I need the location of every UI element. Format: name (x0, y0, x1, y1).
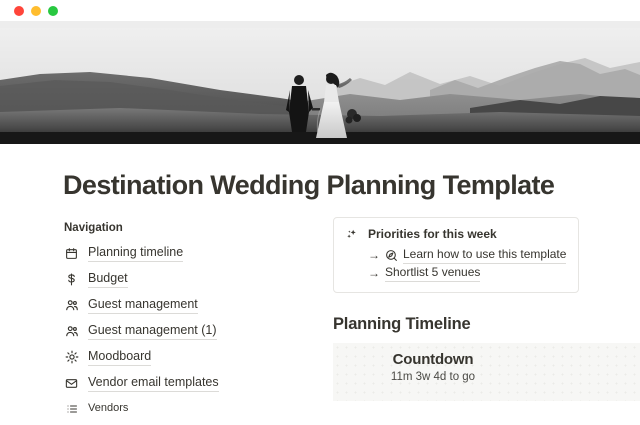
priorities-title: Priorities for this week (368, 227, 497, 242)
sparkles-icon (345, 228, 359, 242)
sun-icon (64, 350, 79, 365)
section-title-planning-timeline: Planning Timeline (333, 315, 579, 334)
sidebar-item-label: Vendor email templates (88, 375, 219, 392)
sidebar-item-moodboard[interactable]: Moodboard (64, 347, 314, 367)
hero-photo-illustration (0, 28, 640, 144)
envelope-icon (64, 376, 79, 391)
calendar-icon (64, 246, 79, 261)
sidebar-item-label: Guest management (1) (88, 323, 217, 340)
sidebar-item-label: Budget (88, 271, 128, 288)
people-icon (64, 298, 79, 313)
sidebar-item-label: Planning timeline (88, 245, 183, 262)
zoom-window-button[interactable] (48, 6, 58, 16)
countdown-subtitle: 11m 3w 4d to go (333, 371, 533, 383)
priority-item-learn[interactable]: → Learn how to use this template (368, 246, 567, 264)
priority-item-label: Learn how to use this template (403, 246, 566, 264)
people-icon (64, 324, 79, 339)
countdown-card: Countdown 11m 3w 4d to go (333, 343, 640, 401)
arrow-right-icon: → (368, 247, 380, 264)
titlebar-divider (0, 21, 640, 28)
close-window-button[interactable] (14, 6, 24, 16)
hero-photo (0, 28, 640, 144)
right-column: Priorities for this week → Learn how to … (333, 217, 579, 401)
arrow-right-icon: → (368, 265, 380, 282)
sidebar-item-label: Guest management (88, 297, 198, 314)
priorities-list: → Learn how to use this template → Short… (368, 246, 567, 282)
window-titlebar (0, 0, 640, 21)
navigation-section: Navigation Planning timeline Budget (64, 222, 314, 425)
countdown-title: Countdown (333, 351, 533, 368)
priorities-header: Priorities for this week (345, 227, 567, 242)
list-icon (64, 402, 79, 417)
priority-item-label: Shortlist 5 venues (385, 264, 480, 282)
sidebar-item-guest-management[interactable]: Guest management (64, 295, 314, 315)
sidebar-item-planning-timeline[interactable]: Planning timeline (64, 243, 314, 263)
sidebar-item-label: Moodboard (88, 349, 151, 366)
countdown-content: Countdown 11m 3w 4d to go (333, 351, 533, 383)
page-title: Destination Wedding Planning Template (63, 170, 554, 201)
sidebar-item-vendors[interactable]: Vendors (64, 399, 314, 419)
sidebar-item-vendor-email-templates[interactable]: Vendor email templates (64, 373, 314, 393)
navigation-heading: Navigation (64, 222, 314, 234)
compass-icon (385, 249, 398, 262)
priorities-card: Priorities for this week → Learn how to … (333, 217, 579, 293)
priority-item-shortlist[interactable]: → Shortlist 5 venues (368, 264, 567, 282)
dollar-icon (64, 272, 79, 287)
sidebar-item-label: Vendors (88, 401, 128, 418)
sidebar-item-budget[interactable]: Budget (64, 269, 314, 289)
sidebar-item-guest-management-1[interactable]: Guest management (1) (64, 321, 314, 341)
traffic-lights (14, 6, 58, 16)
minimize-window-button[interactable] (31, 6, 41, 16)
page-body: Destination Wedding Planning Template Na… (0, 144, 640, 400)
